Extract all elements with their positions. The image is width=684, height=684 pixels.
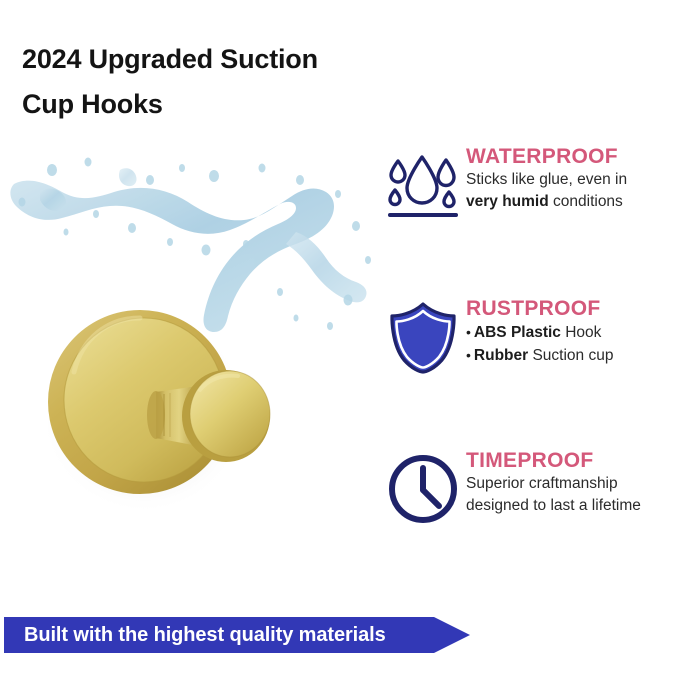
bullet-marker: • [466, 347, 471, 363]
quality-banner-text: Built with the highest quality materials [24, 624, 386, 647]
feature-heading: RUSTPROOF [466, 296, 684, 321]
bullet-plain: Suction cup [528, 347, 613, 364]
infographic-page: 2024 Upgraded Suction Cup Hooks [0, 0, 684, 684]
feature-bullet: •ABS Plastic Hook [466, 321, 684, 344]
title-line-2: Cup Hooks [22, 82, 442, 127]
feature-body-plain: conditions [549, 193, 623, 210]
gold-suction-cup-hook [48, 280, 298, 525]
feature-waterproof: WATERPROOF Sticks like glue, even in ver… [386, 144, 684, 296]
bullet-bold: Rubber [474, 347, 528, 364]
feature-body-plain: designed to last a lifetime [466, 497, 641, 514]
feature-body-plain: Superior craftmanship [466, 475, 618, 492]
feature-heading: TIMEPROOF [466, 448, 684, 473]
shield-icon [386, 300, 460, 374]
page-title: 2024 Upgraded Suction Cup Hooks [22, 37, 442, 127]
feature-body-line: very humid conditions [466, 191, 684, 213]
feature-rustproof: RUSTPROOF •ABS Plastic Hook •Rubber Suct… [386, 296, 684, 448]
feature-body-line: Superior craftmanship [466, 473, 684, 495]
bullet-plain: Hook [561, 324, 602, 341]
feature-heading: WATERPROOF [466, 144, 684, 169]
quality-banner: Built with the highest quality materials [4, 617, 470, 653]
feature-body-line: Sticks like glue, even in [466, 169, 684, 191]
title-line-1: 2024 Upgraded Suction [22, 37, 442, 82]
water-drops-icon [386, 148, 460, 222]
feature-body-bold: very humid [466, 193, 549, 210]
feature-timeproof-text: TIMEPROOF Superior craftmanship designed… [466, 448, 684, 517]
feature-body-line: designed to last a lifetime [466, 495, 684, 517]
clock-icon [386, 452, 460, 526]
feature-bullet: •Rubber Suction cup [466, 344, 684, 367]
product-image-area [0, 140, 380, 540]
feature-rustproof-text: RUSTPROOF •ABS Plastic Hook •Rubber Suct… [466, 296, 684, 367]
feature-body-plain: Sticks like glue, even in [466, 171, 627, 188]
feature-list: WATERPROOF Sticks like glue, even in ver… [386, 144, 684, 448]
bullet-marker: • [466, 324, 471, 340]
bullet-bold: ABS Plastic [474, 324, 561, 341]
feature-waterproof-text: WATERPROOF Sticks like glue, even in ver… [466, 144, 684, 213]
